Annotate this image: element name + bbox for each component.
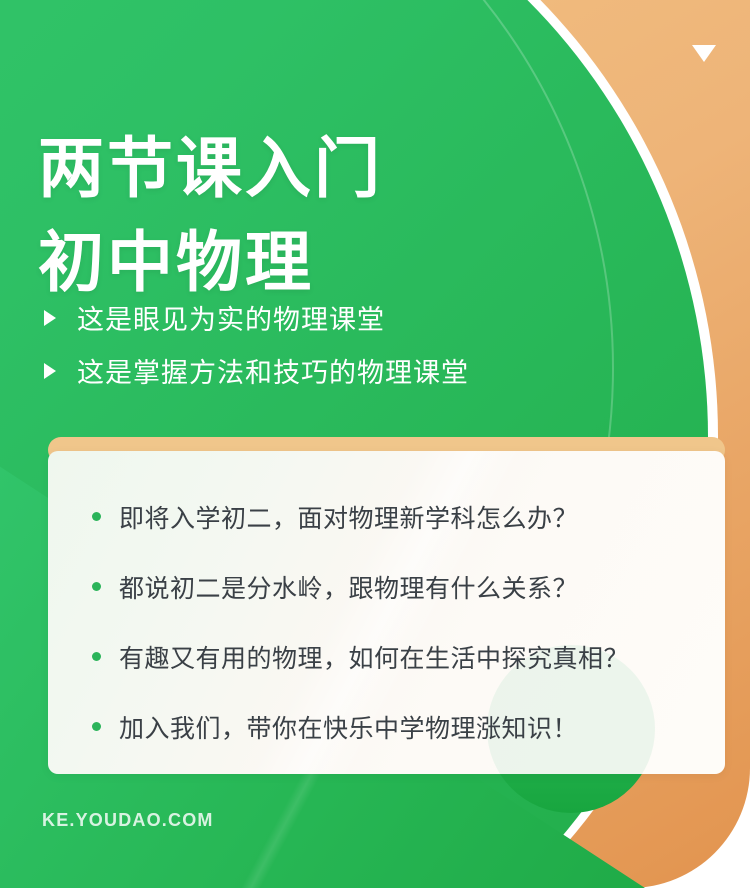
- page-title-line-2: 初中物理: [38, 216, 383, 310]
- list-item: 都说初二是分水岭，跟物理有什么关系？: [92, 569, 725, 605]
- list-item-label: 都说初二是分水岭，跟物理有什么关系？: [119, 569, 578, 605]
- footer-brand: KE.YOUDAO.COM: [42, 810, 214, 831]
- dot-icon: [92, 722, 101, 731]
- promo-poster: 两节课入门初中物理 这是眼见为实的物理课堂 这是掌握方法和技巧的物理课堂 即将入…: [0, 0, 750, 888]
- dot-icon: [92, 652, 101, 661]
- subtitle-list-item-label: 这是眼见为实的物理课堂: [77, 298, 385, 337]
- subtitle-list-item: 这是掌握方法和技巧的物理课堂: [44, 351, 469, 390]
- list-item-label: 即将入学初二，面对物理新学科怎么办？: [119, 499, 578, 535]
- card-question-list: 即将入学初二，面对物理新学科怎么办？ 都说初二是分水岭，跟物理有什么关系？ 有趣…: [48, 451, 725, 745]
- triangle-down-icon: [692, 45, 716, 62]
- content-card: 即将入学初二，面对物理新学科怎么办？ 都说初二是分水岭，跟物理有什么关系？ 有趣…: [48, 437, 725, 774]
- card-body: 即将入学初二，面对物理新学科怎么办？ 都说初二是分水岭，跟物理有什么关系？ 有趣…: [48, 451, 725, 774]
- triangle-right-icon: [44, 363, 56, 379]
- subtitle-list-item-label: 这是掌握方法和技巧的物理课堂: [77, 351, 469, 390]
- subtitle-list-item: 这是眼见为实的物理课堂: [44, 298, 469, 337]
- page-title: 两节课入门初中物理: [38, 122, 383, 309]
- page-title-line-1: 两节课入门: [38, 131, 383, 205]
- list-item: 即将入学初二，面对物理新学科怎么办？: [92, 499, 725, 535]
- subtitle-list: 这是眼见为实的物理课堂 这是掌握方法和技巧的物理课堂: [44, 298, 469, 404]
- list-item: 有趣又有用的物理，如何在生活中探究真相？: [92, 639, 725, 675]
- list-item-label: 有趣又有用的物理，如何在生活中探究真相？: [119, 639, 629, 675]
- list-item: 加入我们，带你在快乐中学物理涨知识！: [92, 709, 725, 745]
- dot-icon: [92, 582, 101, 591]
- dot-icon: [92, 512, 101, 521]
- triangle-right-icon: [44, 310, 56, 326]
- list-item-label: 加入我们，带你在快乐中学物理涨知识！: [119, 709, 578, 745]
